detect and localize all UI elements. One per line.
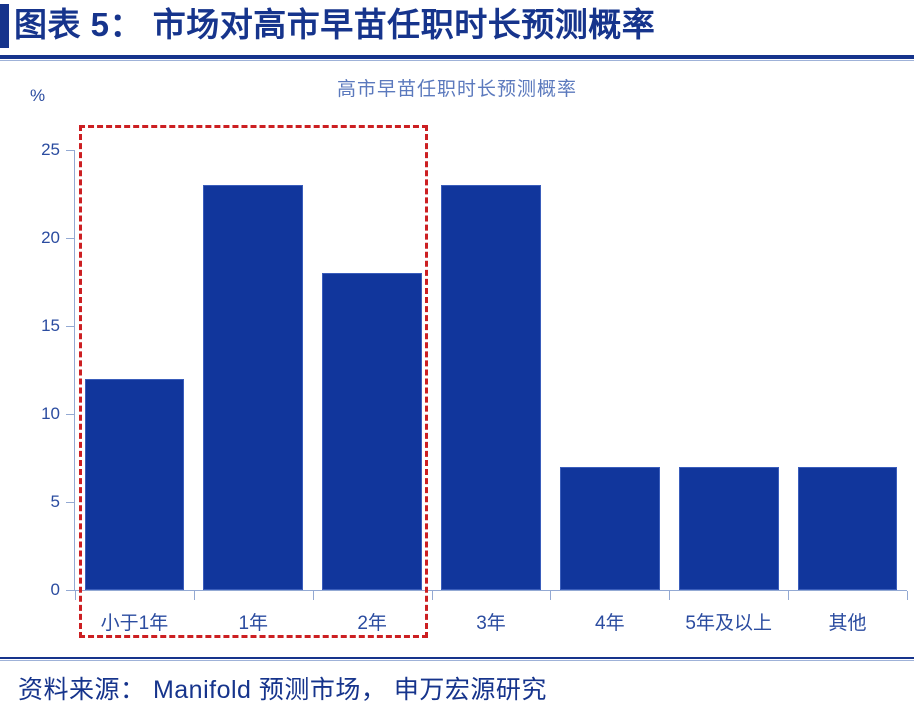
x-axis-tick <box>550 591 551 600</box>
y-axis-tick-label: 15 <box>2 316 60 336</box>
x-axis-tick <box>669 591 670 600</box>
source-note: 资料来源： Manifold 预测市场， 申万宏源研究 <box>18 670 547 706</box>
x-axis-tick <box>788 591 789 600</box>
y-axis-tick <box>66 238 75 239</box>
x-axis-label: 5年及以上 <box>669 608 788 635</box>
x-axis-label: 2年 <box>313 608 432 635</box>
bar <box>679 467 779 590</box>
y-axis-tick <box>66 326 75 327</box>
y-axis-tick-label: 0 <box>2 580 60 600</box>
x-axis-label: 1年 <box>194 608 313 635</box>
chart-container: 高市早苗任职时长预测概率 % 0510152025 小于1年1年2年3年4年5年… <box>0 62 914 652</box>
x-axis-tick <box>313 591 314 600</box>
bar <box>560 467 660 590</box>
x-axis-tick <box>432 591 433 600</box>
plot-area: 0510152025 小于1年1年2年3年4年5年及以上其他 <box>0 62 914 652</box>
y-axis-line <box>74 150 75 590</box>
x-axis-label: 其他 <box>788 608 907 635</box>
footer-divider-thin <box>0 660 914 661</box>
y-axis-tick-label: 20 <box>2 228 60 248</box>
bar <box>322 273 422 590</box>
header-accent-bar <box>0 4 9 48</box>
y-axis-tick <box>66 590 75 591</box>
bar <box>798 467 898 590</box>
bar <box>85 379 185 590</box>
y-axis-tick-label: 25 <box>2 140 60 160</box>
footer-divider <box>0 657 914 659</box>
x-axis-label: 小于1年 <box>75 608 194 635</box>
chart-header: 图表 5： 市场对高市早苗任职时长预测概率 <box>0 0 914 52</box>
y-axis-tick <box>66 502 75 503</box>
x-axis-label: 4年 <box>550 608 669 635</box>
bar <box>203 185 303 590</box>
x-axis-line <box>74 590 907 591</box>
x-axis-tick <box>194 591 195 600</box>
page-title: 图表 5： 市场对高市早苗任职时长预测概率 <box>14 2 655 48</box>
y-axis-tick-label: 10 <box>2 404 60 424</box>
x-axis-label: 3年 <box>432 608 551 635</box>
header-divider <box>0 55 914 59</box>
y-axis-tick <box>66 414 75 415</box>
y-axis-tick-label: 5 <box>2 492 60 512</box>
bar <box>441 185 541 590</box>
x-axis-tick <box>907 591 908 600</box>
y-axis-tick <box>66 150 75 151</box>
x-axis-tick <box>75 591 76 600</box>
header-divider-thin <box>0 60 914 61</box>
